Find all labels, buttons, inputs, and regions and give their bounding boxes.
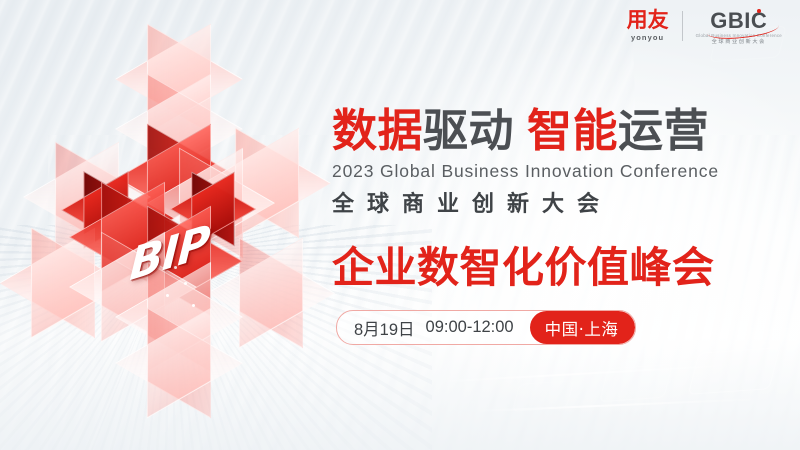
artwork-sparkle [166,294,169,297]
yonyou-logo[interactable]: 用友 yonyou [627,10,669,42]
gbic-logo-sub-en: Global Business Innovation Conference [696,34,782,38]
artwork-cube [142,326,216,400]
event-info-pill: 8月19日 09:00-12:00 中国·上海 [336,310,636,345]
main-title-part2: 驱动 [423,104,514,157]
artwork-sparkle [192,304,195,307]
event-time: 09:00-12:00 [426,318,514,337]
main-title-part4: 运营 [618,104,709,157]
headline-block: 数据驱动智能运营 2023 Global Business Innovation… [332,108,778,295]
artwork-sparkle [184,282,187,285]
summit-title: 企业数智化价值峰会 [332,234,778,295]
yonyou-logo-en: yonyou [627,34,669,42]
conference-banner: BIP 用友 yonyou GBIC Global Business Innov… [0,0,800,450]
background-watermark-shape [688,347,780,394]
main-title-part3: 智能 [527,104,618,157]
gbic-logo[interactable]: GBIC Global Business Innovation Conferen… [696,7,782,45]
conference-title-en: 2023 Global Business Innovation Conferen… [332,161,778,182]
gbic-logo-sub-cn: 全球商业创新大会 [696,40,782,45]
yonyou-logo-cn: 用友 [627,10,669,31]
bip-cube-artwork: BIP [22,36,352,382]
event-location: 中国·上海 [530,311,636,344]
main-title: 数据驱动智能运营 [332,108,778,154]
event-datetime: 8月19日 09:00-12:00 [337,311,530,344]
logo-group: 用友 yonyou GBIC Global Business Innovatio… [627,7,782,45]
main-title-part1: 数据 [332,104,423,157]
logo-divider [682,11,683,41]
conference-title-cn: 全球商业创新大会 [332,186,778,218]
artwork-cube [234,256,308,330]
gbic-logo-mark: GBIC [710,10,767,32]
event-date: 8月19日 [354,316,415,340]
